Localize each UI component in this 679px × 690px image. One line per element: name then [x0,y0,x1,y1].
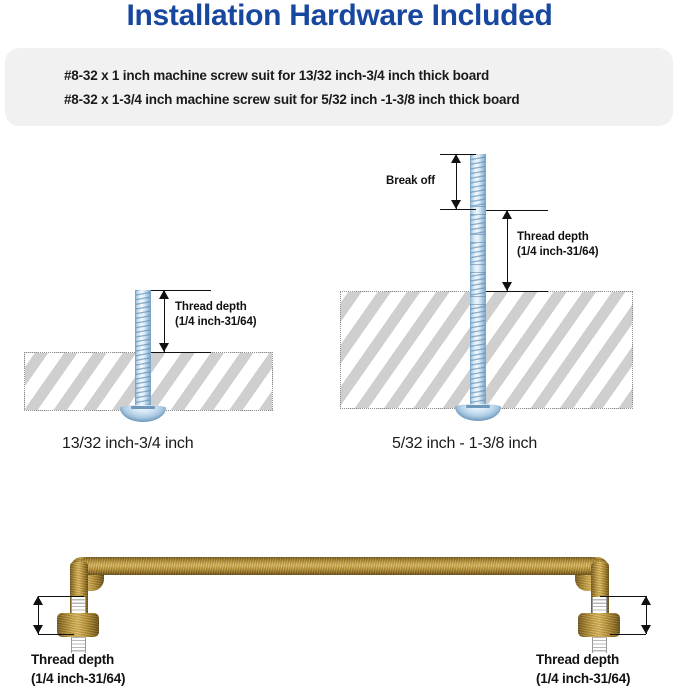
screw-threads-long [471,154,485,410]
handle-thread-depth-label-right-line-1: Thread depth [536,650,630,669]
arrow-down-icon-long [502,282,512,291]
arrow-up-icon-handle-right [641,596,651,605]
arrow-up-icon-handle-left [33,596,43,605]
thread-depth-label-long-line-1: Thread depth [517,230,599,245]
dim-tick-top-handle-left [38,596,84,597]
handle-thread-depth-label-right: Thread depth (1/4 inch-31/64) [536,650,630,688]
screw-installation-diagrams: Thread depth (1/4 inch-31/64) 13/32 inch… [0,130,679,460]
thread-depth-label-short: Thread depth (1/4 inch-31/64) [175,300,257,330]
thread-depth-label-long: Thread depth (1/4 inch-31/64) [517,230,599,260]
handle-thread-depth-label-right-line-2: (1/4 inch-31/64) [536,669,630,688]
dim-tick-top-handle-right [600,596,646,597]
page-title: Installation Hardware Included [0,0,679,34]
hardware-info-line-2: #8-32 x 1-3/4 inch machine screw suit fo… [64,92,519,107]
handle-thread-depth-label-left-line-1: Thread depth [31,650,125,669]
arrow-down-icon-breakoff [451,200,461,209]
screw-shaft-long [470,154,486,410]
handle-thread-depth-label-left: Thread depth (1/4 inch-31/64) [31,650,125,688]
screw-threads-short [136,290,150,410]
break-off-label: Break off [386,174,435,189]
dim-tick-bottom-handle-right [610,634,646,635]
arrow-up-icon-short [159,290,169,299]
thread-depth-label-long-line-2: (1/4 inch-31/64) [517,245,599,260]
handle-grip-bar [78,557,601,575]
thread-depth-label-short-line-1: Thread depth [175,300,257,315]
dim-tick-bottom-long [486,291,548,292]
board-cross-section-long [340,291,633,409]
break-off-groove-3 [470,264,486,273]
cabinet-handle-diagram: Thread depth (1/4 inch-31/64) Thread dep… [0,500,679,690]
arrow-up-icon-long [502,210,512,219]
dim-tick-bottom-handle-left [38,634,74,635]
caption-long-screw: 5/32 inch - 1-3/8 inch [392,435,537,453]
thread-depth-label-short-line-2: (1/4 inch-31/64) [175,315,257,330]
arrow-down-icon-handle-left [33,625,43,634]
break-off-groove-2 [470,234,486,243]
dim-line-thread-depth-long [507,210,508,291]
dim-tick-bottom-breakoff [440,209,476,210]
arrow-down-icon-handle-right [641,625,651,634]
screw-shaft-short [135,290,151,410]
caption-short-screw: 13/32 inch-3/4 inch [62,435,193,453]
arrow-down-icon-short [159,343,169,352]
arrow-up-icon-breakoff [451,154,461,163]
screw-head-slot-long [466,405,490,408]
hardware-info-line-1: #8-32 x 1 inch machine screw suit for 13… [64,68,489,83]
break-off-label-line-1: Break off [386,174,435,189]
dim-tick-top-long [486,210,548,211]
break-off-groove-1 [470,206,486,215]
hardware-info-panel: #8-32 x 1 inch machine screw suit for 13… [5,48,673,126]
break-off-groove-4 [470,296,486,305]
dim-tick-bottom-short [151,352,211,353]
handle-thread-depth-label-left-line-2: (1/4 inch-31/64) [31,669,125,688]
screw-head-slot-short [131,406,155,409]
